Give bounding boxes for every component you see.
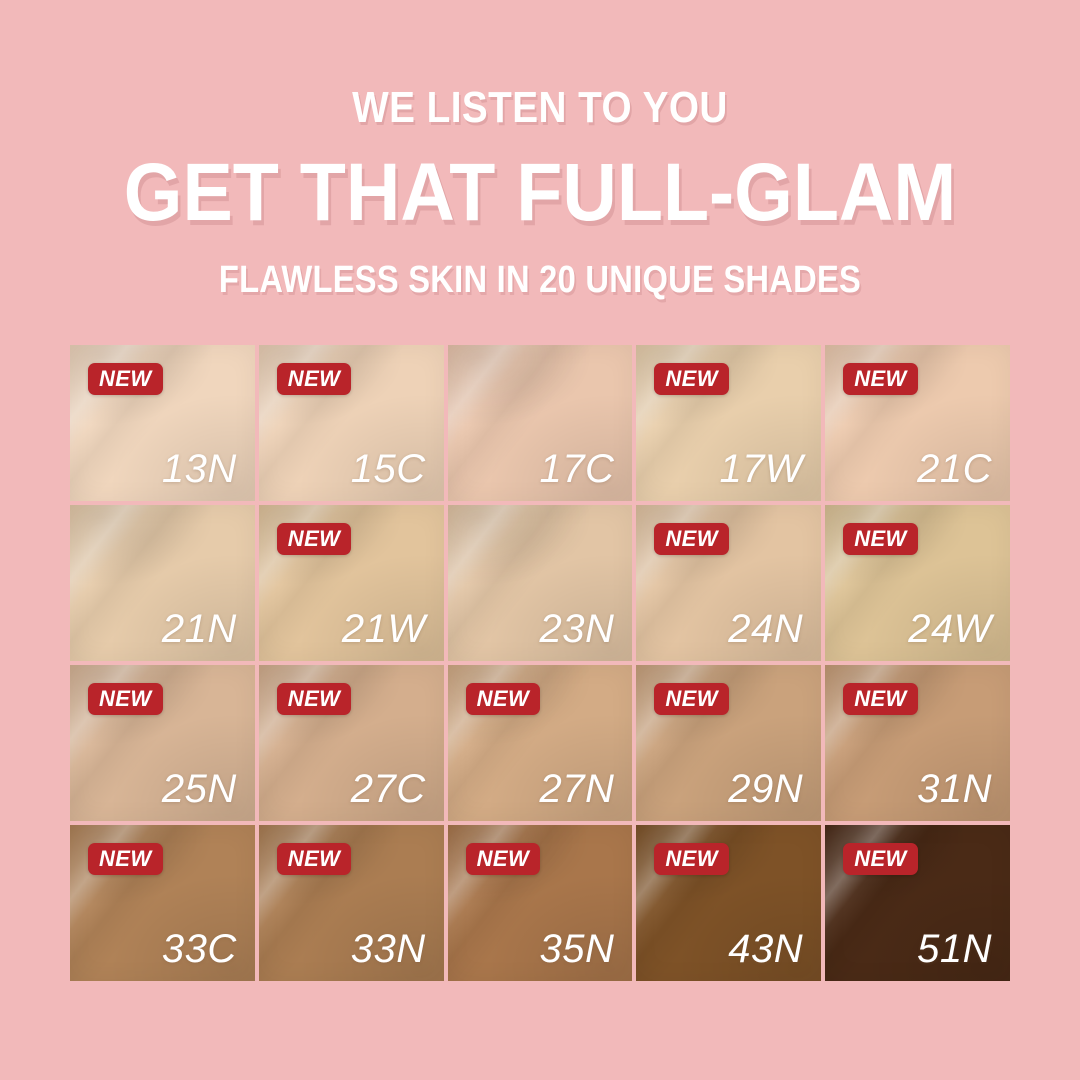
subtitle-text: FLAWLESS SKIN IN 20 UNIQUE SHADES (76, 261, 1005, 300)
shade-swatch[interactable]: NEW29N (636, 665, 821, 821)
shade-code-label: 51N (917, 927, 992, 971)
page-title: GET THAT FULL-GLAM (43, 151, 1037, 235)
new-badge: NEW (277, 683, 352, 715)
new-badge: NEW (466, 843, 541, 875)
new-badge: NEW (654, 843, 729, 875)
shade-swatch[interactable]: NEW51N (825, 825, 1010, 981)
shade-code-label: 29N (728, 767, 803, 811)
new-badge: NEW (277, 363, 352, 395)
shade-code-label: 43N (728, 927, 803, 971)
new-badge: NEW (654, 683, 729, 715)
new-badge: NEW (654, 523, 729, 555)
shade-code-label: 24N (728, 607, 803, 651)
shade-swatch[interactable]: NEW21W (259, 505, 444, 661)
shade-code-label: 15C (351, 447, 426, 491)
shade-swatch[interactable]: NEW43N (636, 825, 821, 981)
new-badge: NEW (654, 363, 729, 395)
new-badge: NEW (277, 523, 352, 555)
shade-swatch[interactable]: NEW35N (448, 825, 633, 981)
shade-swatch[interactable]: 23N (448, 505, 633, 661)
shade-code-label: 21N (162, 607, 237, 651)
shade-swatch[interactable]: NEW27C (259, 665, 444, 821)
new-badge: NEW (843, 843, 918, 875)
shade-code-label: 17C (540, 447, 615, 491)
new-badge: NEW (843, 683, 918, 715)
shade-swatch[interactable]: NEW33N (259, 825, 444, 981)
shade-swatch[interactable]: 17C (448, 345, 633, 501)
shade-code-label: 33C (162, 927, 237, 971)
shade-code-label: 31N (917, 767, 992, 811)
shade-swatch[interactable]: NEW24W (825, 505, 1010, 661)
new-badge: NEW (277, 843, 352, 875)
shade-swatch[interactable]: NEW17W (636, 345, 821, 501)
shade-code-label: 21W (342, 607, 426, 651)
new-badge: NEW (88, 683, 163, 715)
shade-code-label: 21C (917, 447, 992, 491)
shade-code-label: 23N (540, 607, 615, 651)
shade-code-label: 17W (719, 447, 803, 491)
shade-code-label: 13N (162, 447, 237, 491)
shade-code-label: 35N (540, 927, 615, 971)
promo-header: WE LISTEN TO YOU GET THAT FULL-GLAM FLAW… (0, 0, 1080, 299)
eyebrow-text: WE LISTEN TO YOU (65, 86, 1015, 131)
new-badge: NEW (843, 523, 918, 555)
new-badge: NEW (466, 683, 541, 715)
shade-code-label: 27N (540, 767, 615, 811)
new-badge: NEW (843, 363, 918, 395)
shade-swatch[interactable]: 21N (70, 505, 255, 661)
shade-code-label: 33N (351, 927, 426, 971)
shade-code-label: 25N (162, 767, 237, 811)
shade-swatch-grid: NEW13NNEW15C17CNEW17WNEW21C21NNEW21W23NN… (70, 345, 1010, 981)
shade-swatch[interactable]: NEW31N (825, 665, 1010, 821)
shade-code-label: 27C (351, 767, 426, 811)
new-badge: NEW (88, 843, 163, 875)
new-badge: NEW (88, 363, 163, 395)
shade-swatch[interactable]: NEW27N (448, 665, 633, 821)
shade-code-label: 24W (908, 607, 992, 651)
shade-swatch[interactable]: NEW25N (70, 665, 255, 821)
shade-swatch[interactable]: NEW15C (259, 345, 444, 501)
shade-swatch[interactable]: NEW24N (636, 505, 821, 661)
shade-swatch[interactable]: NEW33C (70, 825, 255, 981)
shade-swatch[interactable]: NEW13N (70, 345, 255, 501)
shade-swatch[interactable]: NEW21C (825, 345, 1010, 501)
